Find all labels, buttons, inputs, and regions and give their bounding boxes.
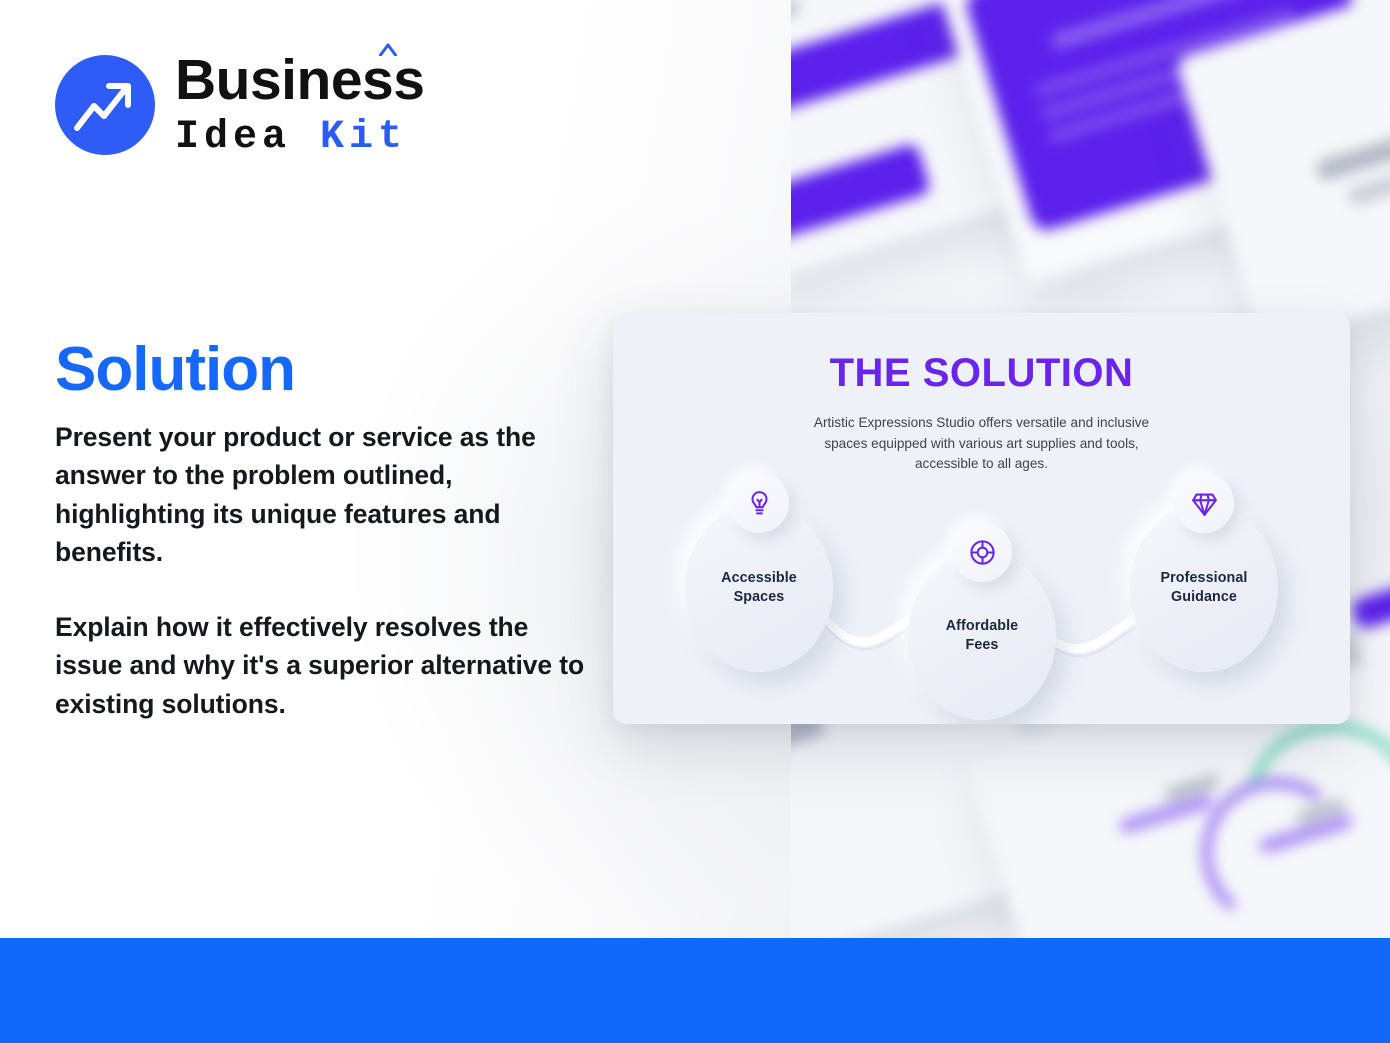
pill-label: Accessible Spaces	[721, 569, 797, 606]
brand-name-secondary: Idea Kit	[175, 118, 424, 158]
slide-root: Business Idea Kit Solution Present your …	[0, 0, 1390, 1043]
brand-name-kit: Kit	[320, 115, 407, 160]
pill-label: Affordable Fees	[946, 617, 1018, 654]
lifebuoy-icon	[952, 522, 1012, 582]
pill-label-line1: Affordable	[946, 618, 1018, 634]
diamond-gem-icon	[1174, 473, 1234, 533]
solution-card: THE SOLUTION Artistic Expressions Studio…	[613, 313, 1350, 724]
trending-up-arrow-icon	[55, 55, 155, 155]
pill-label-line1: Accessible	[721, 570, 797, 586]
brand-logo[interactable]: Business Idea Kit	[55, 52, 424, 158]
brand-wordmark: Business Idea Kit	[175, 52, 424, 158]
page-body-copy: Present your product or service as the a…	[55, 418, 595, 723]
solution-card-description: Artistic Expressions Studio offers versa…	[802, 413, 1162, 475]
pill-label-line2: Spaces	[734, 589, 785, 605]
brand-name-primary: Business	[175, 52, 424, 109]
page-title: Solution	[55, 337, 295, 402]
lightbulb-icon	[729, 473, 789, 533]
pill-label-line1: Professional	[1160, 570, 1247, 586]
body-paragraph-2: Explain how it effectively resolves the …	[55, 608, 595, 723]
pill-label-line2: Fees	[965, 637, 998, 653]
brand-name-primary-text: Business	[175, 48, 424, 112]
body-paragraph-1: Present your product or service as the a…	[55, 418, 595, 572]
pill-label: Professional Guidance	[1160, 569, 1247, 606]
pill-label-line2: Guidance	[1171, 589, 1237, 605]
footer-accent-bar	[0, 938, 1390, 1043]
brand-name-idea: Idea	[175, 115, 291, 160]
solution-card-heading: THE SOLUTION	[613, 353, 1350, 393]
